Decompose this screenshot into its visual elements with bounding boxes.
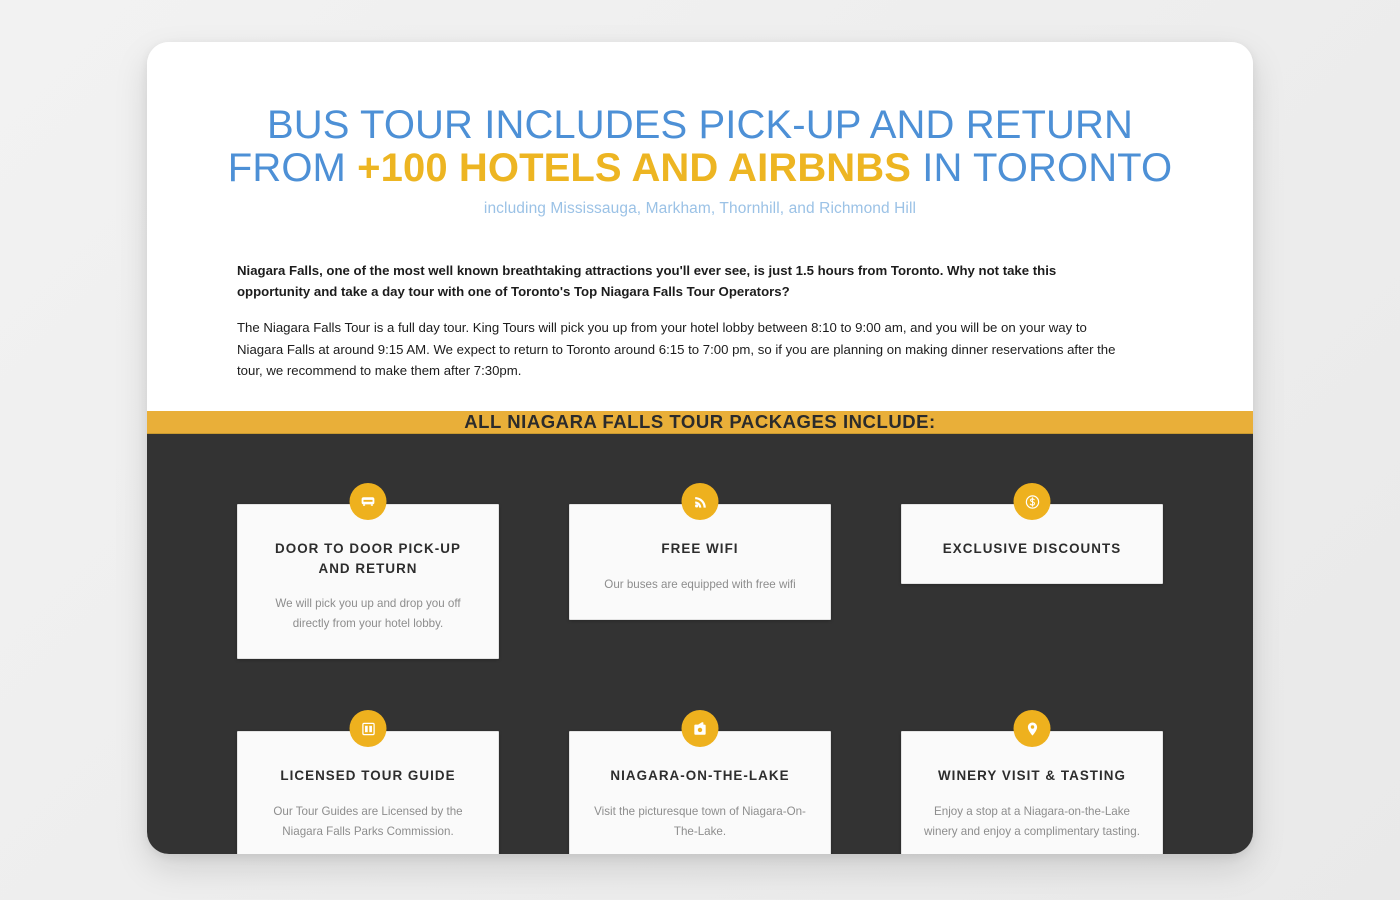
feature-row-1: DOOR TO DOOR PICK-UP AND RETURN We will … <box>237 482 1163 659</box>
feature-description: Enjoy a stop at a Niagara-on-the-Lake wi… <box>924 802 1140 842</box>
map-pin-icon <box>1014 710 1051 747</box>
feature-card-licensed-tour-guide[interactable]: LICENSED TOUR GUIDE Our Tour Guides are … <box>237 731 499 854</box>
wifi-icon <box>682 483 719 520</box>
feature-title: WINERY VISIT & TASTING <box>924 766 1140 785</box>
page-subtitle: including Mississauga, Markham, Thornhil… <box>207 200 1193 218</box>
feature-title: EXCLUSIVE DISCOUNTS <box>924 539 1140 558</box>
feature-title: NIAGARA-ON-THE-LAKE <box>592 766 808 785</box>
page-title-line2-suffix: IN TORONTO <box>911 146 1172 190</box>
feature-card-niagara-on-the-lake[interactable]: NIAGARA-ON-THE-LAKE Visit the picturesqu… <box>569 731 831 854</box>
feature-card-door-to-door[interactable]: DOOR TO DOOR PICK-UP AND RETURN We will … <box>237 504 499 659</box>
content-surface: BUS TOUR INCLUDES PICK-UP AND RETURN FRO… <box>147 42 1253 854</box>
hero-section: BUS TOUR INCLUDES PICK-UP AND RETURN FRO… <box>147 42 1253 218</box>
packages-banner-label: ALL NIAGARA FALLS TOUR PACKAGES INCLUDE: <box>464 411 935 433</box>
money-coin-icon <box>1014 483 1051 520</box>
feature-description: Our Tour Guides are Licensed by the Niag… <box>260 802 476 842</box>
page-title-line1: BUS TOUR INCLUDES PICK-UP AND RETURN <box>267 103 1133 147</box>
bus-icon <box>350 483 387 520</box>
page-background: BUS TOUR INCLUDES PICK-UP AND RETURN FRO… <box>0 0 1400 900</box>
feature-title: DOOR TO DOOR PICK-UP AND RETURN <box>260 539 476 578</box>
page-title-line2-prefix: FROM <box>228 146 357 190</box>
feature-description: Our buses are equipped with free wifi <box>592 575 808 595</box>
camera-icon <box>682 710 719 747</box>
feature-title: LICENSED TOUR GUIDE <box>260 766 476 785</box>
feature-title: FREE WIFI <box>592 539 808 558</box>
feature-card-exclusive-discounts[interactable]: EXCLUSIVE DISCOUNTS <box>901 504 1163 583</box>
page-title: BUS TOUR INCLUDES PICK-UP AND RETURN FRO… <box>207 104 1193 190</box>
features-section: DOOR TO DOOR PICK-UP AND RETURN We will … <box>147 434 1253 854</box>
page-title-highlight: +100 HOTELS AND AIRBNBS <box>357 146 911 190</box>
packages-banner: ALL NIAGARA FALLS TOUR PACKAGES INCLUDE: <box>147 411 1253 434</box>
id-badge-icon <box>350 710 387 747</box>
feature-card-winery-visit[interactable]: WINERY VISIT & TASTING Enjoy a stop at a… <box>901 731 1163 854</box>
feature-description: We will pick you up and drop you off dir… <box>260 594 476 634</box>
feature-description: Visit the picturesque town of Niagara-On… <box>592 802 808 842</box>
feature-card-free-wifi[interactable]: FREE WIFI Our buses are equipped with fr… <box>569 504 831 619</box>
intro-copy-section: Niagara Falls, one of the most well know… <box>147 218 1253 412</box>
intro-lead-paragraph: Niagara Falls, one of the most well know… <box>237 260 1121 303</box>
feature-row-2: LICENSED TOUR GUIDE Our Tour Guides are … <box>237 709 1163 854</box>
intro-body-paragraph: The Niagara Falls Tour is a full day tou… <box>237 317 1121 381</box>
